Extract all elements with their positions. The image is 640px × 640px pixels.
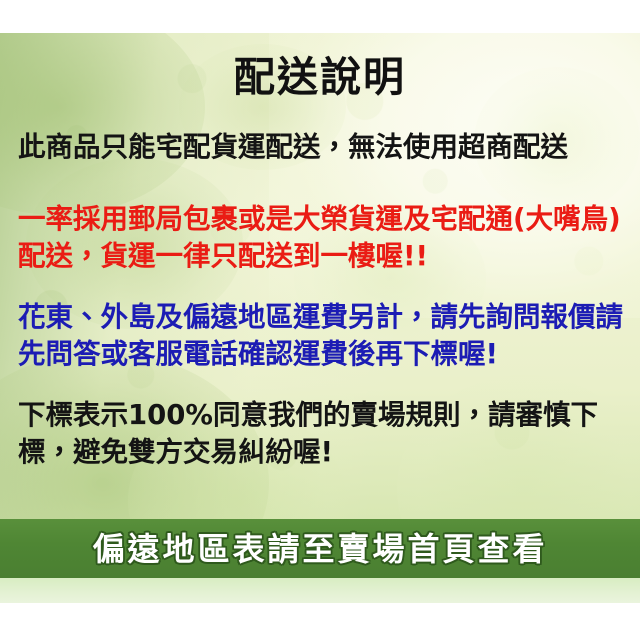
shipping-notice-image: 配送說明 此商品只能宅配貨運配送，無法使用超商配送 一率採用郵局包裹或是大榮貨運… [0, 0, 640, 640]
notice-content: 配送說明 此商品只能宅配貨運配送，無法使用超商配送 一率採用郵局包裹或是大榮貨運… [0, 33, 640, 519]
paragraph-carrier-list: 一率採用郵局包裹或是大榮貨運及宅配通(大嘴鳥)配送，貨運一律只配送到一樓喔!! [18, 201, 628, 275]
paragraph-remote-area-fee: 花東、外島及偏遠地區運費另計，請先詢問報價請先問答或客服電話確認運費後再下標喔! [18, 299, 628, 373]
top-white-margin [0, 0, 640, 33]
bottom-white-margin [0, 603, 640, 640]
footer-pale-strip [0, 578, 640, 603]
footer-banner-label: 偏遠地區表請至賣場首頁查看 [92, 533, 547, 565]
footer-banner: 偏遠地區表請至賣場首頁查看 [0, 519, 640, 578]
paragraph-bid-agreement: 下標表示100%同意我們的賣場規則，請審慎下標，避免雙方交易糾紛喔! [18, 397, 628, 471]
paragraph-courier-only: 此商品只能宅配貨運配送，無法使用超商配送 [18, 129, 628, 166]
page-title: 配送說明 [0, 57, 640, 98]
